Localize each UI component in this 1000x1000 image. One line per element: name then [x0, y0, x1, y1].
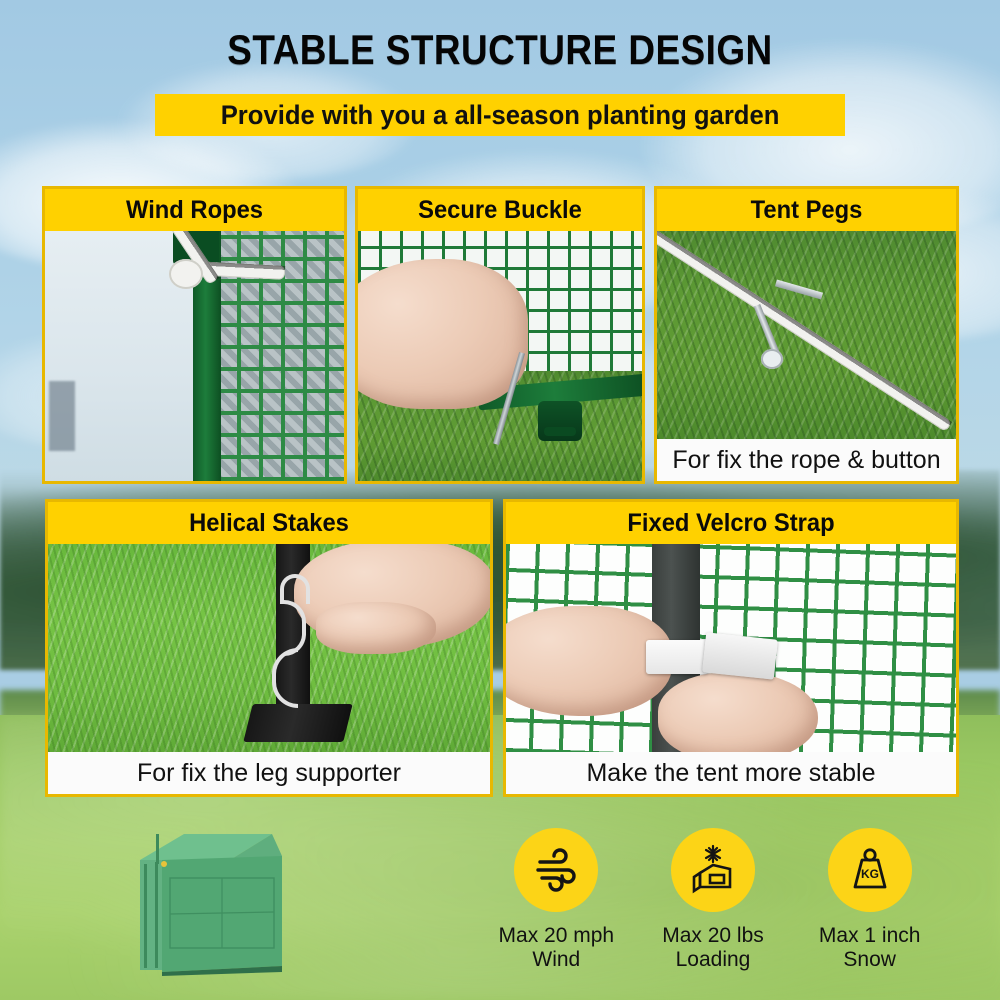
panel-caption: Make the tent more stable — [506, 752, 956, 794]
subtitle-banner: Provide with you a all-season planting g… — [155, 94, 845, 136]
weight-kg-icon: KG — [828, 828, 912, 912]
panel-title: Tent Pegs — [664, 189, 948, 231]
feature-panel-wind-ropes[interactable]: Wind Ropes — [42, 186, 347, 484]
spec-line-1: Max 20 mph — [499, 924, 615, 948]
panel-caption: For fix the rope & button — [657, 439, 956, 481]
product-greenhouse-image — [122, 826, 292, 978]
page-title: STABLE STRUCTURE DESIGN — [60, 26, 940, 74]
kg-label: KG — [861, 867, 879, 881]
panel-title: Fixed Velcro Strap — [517, 502, 945, 544]
spec-badge-label: Max 20 mph Wind — [499, 924, 615, 972]
spec-badge-wind[interactable]: Max 20 mph Wind — [478, 828, 635, 988]
panel-caption: For fix the leg supporter — [48, 752, 490, 794]
spec-line-1: Max 20 lbs — [662, 924, 764, 948]
spec-line-2: Snow — [819, 948, 921, 972]
feature-panel-tent-pegs[interactable]: Tent Pegs For fix the rope & button — [654, 186, 959, 484]
feature-panel-helical-stakes[interactable]: Helical Stakes For fix the leg supporter — [45, 499, 493, 797]
wind-icon — [514, 828, 598, 912]
snow-load-icon — [671, 828, 755, 912]
spec-badge-label: Max 1 inch Snow — [819, 924, 921, 972]
spec-line-2: Loading — [662, 948, 764, 972]
panel-photo-helical-stakes — [48, 544, 490, 752]
panel-photo-secure-buckle — [358, 231, 642, 481]
panel-title: Helical Stakes — [59, 502, 479, 544]
panel-photo-wind-ropes — [45, 231, 344, 481]
spec-line-2: Wind — [499, 948, 615, 972]
spec-badge-label: Max 20 lbs Loading — [662, 924, 764, 972]
spec-line-1: Max 1 inch — [819, 924, 921, 948]
feature-panel-velcro-strap[interactable]: Fixed Velcro Strap Make the tent more st… — [503, 499, 959, 797]
panel-photo-velcro-strap — [506, 544, 956, 752]
subtitle-text: Provide with you a all-season planting g… — [221, 100, 780, 131]
spec-badge-snow[interactable]: KG Max 1 inch Snow — [791, 828, 948, 988]
spec-badge-row: Max 20 mph Wind — [478, 828, 948, 988]
panel-photo-tent-pegs — [657, 231, 956, 439]
panel-title: Wind Ropes — [52, 189, 336, 231]
panel-title: Secure Buckle — [365, 189, 635, 231]
feature-panel-secure-buckle[interactable]: Secure Buckle — [355, 186, 645, 484]
spec-badge-loading[interactable]: Max 20 lbs Loading — [635, 828, 792, 988]
